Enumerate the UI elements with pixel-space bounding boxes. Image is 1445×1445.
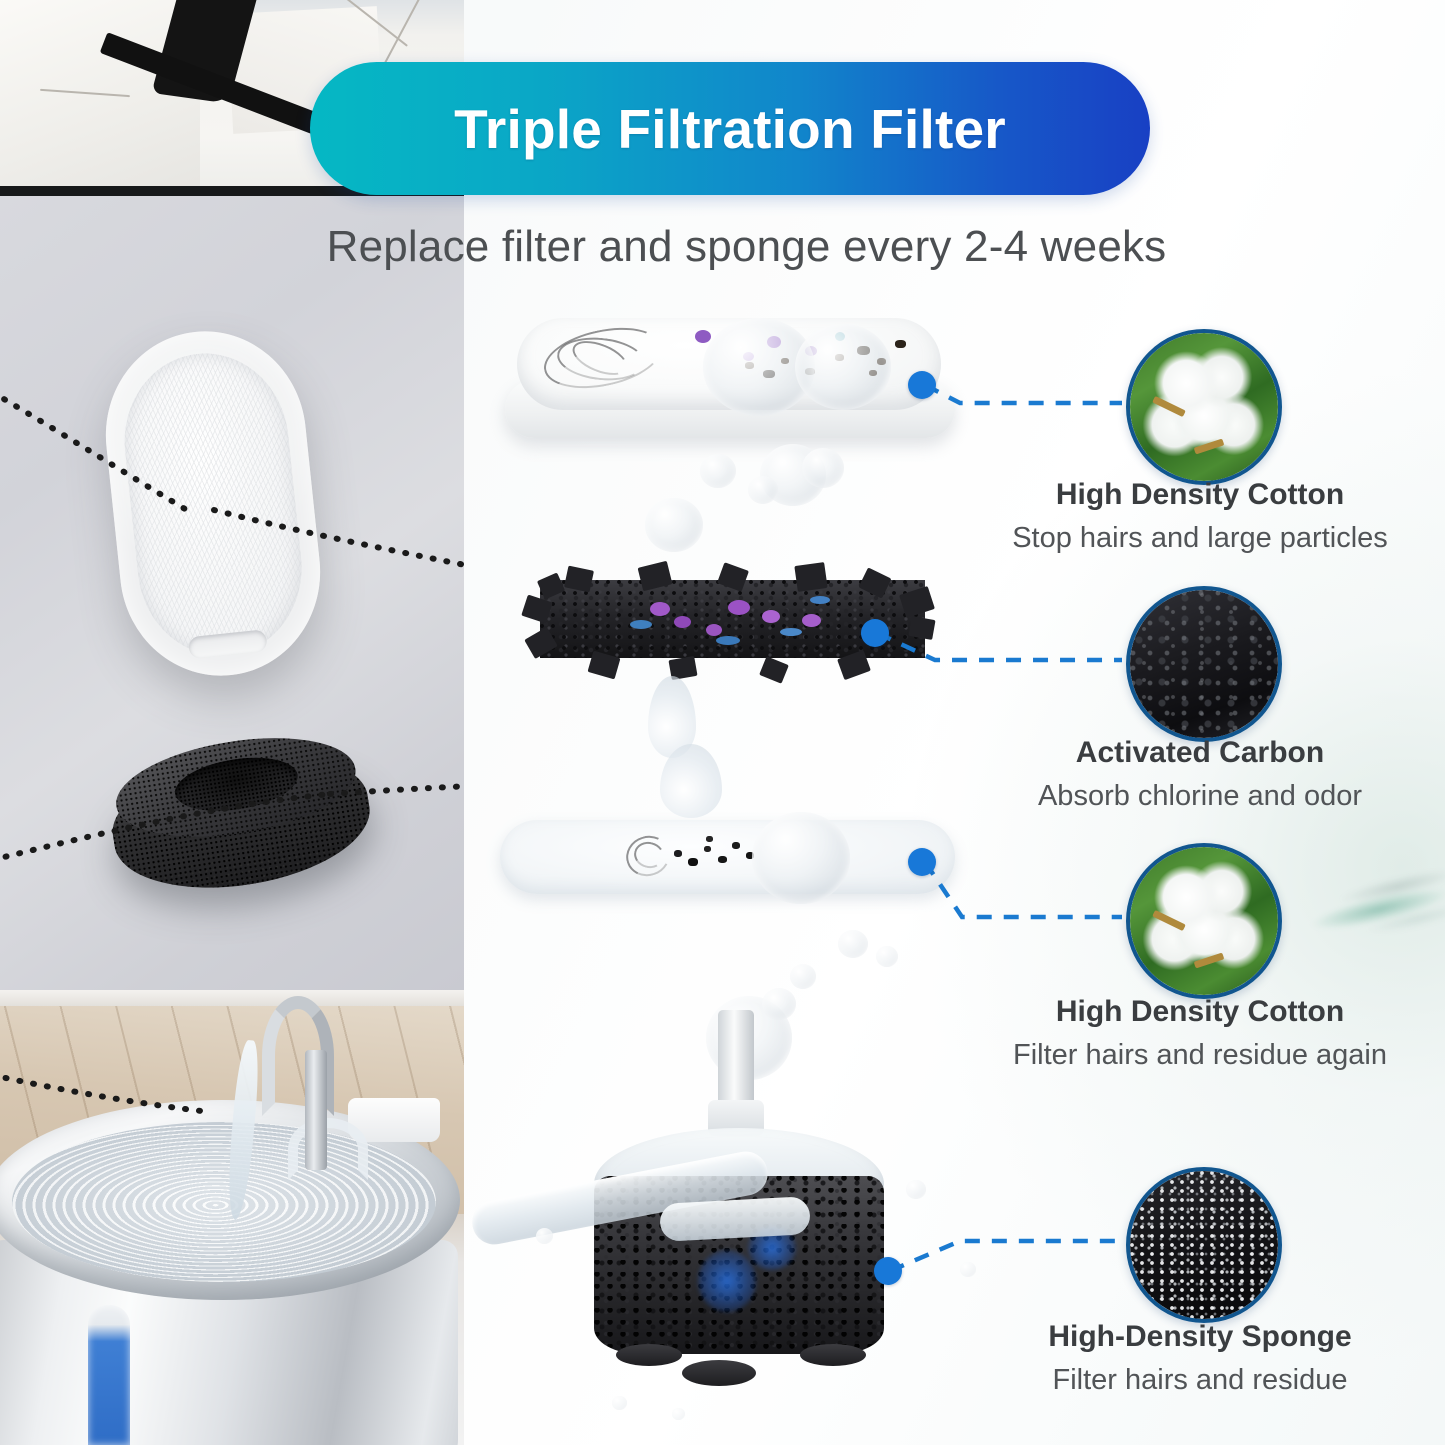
banner-title: Triple Filtration Filter bbox=[310, 62, 1150, 195]
germ-particle bbox=[630, 620, 652, 629]
wall-baseboard bbox=[0, 990, 464, 1006]
callout-marker-dot[interactable] bbox=[908, 848, 936, 876]
callout-thumbnail-cotton-2 bbox=[1126, 843, 1282, 999]
debris-particle bbox=[706, 836, 713, 842]
badge-image bbox=[1130, 1171, 1278, 1319]
callout-description: Absorb chlorine and odor bbox=[1000, 779, 1400, 814]
cotton-boll-icon bbox=[1130, 847, 1278, 995]
callout-activated-carbon: Activated Carbon Absorb chlorine and odo… bbox=[1000, 736, 1400, 813]
callout-high-density-sponge: High-Density Sponge Filter hairs and res… bbox=[1000, 1320, 1400, 1397]
badge-image bbox=[1130, 847, 1278, 995]
badge-image bbox=[1130, 333, 1278, 481]
germ-particle bbox=[674, 616, 691, 628]
germ-particle bbox=[728, 600, 750, 615]
water-bubble bbox=[748, 476, 778, 504]
water-bubble bbox=[612, 1396, 627, 1410]
debris-particle bbox=[732, 842, 740, 849]
debris-particle bbox=[895, 340, 906, 348]
germ-particle bbox=[650, 602, 670, 616]
fountain-water-surface bbox=[12, 1122, 436, 1282]
water-bubble bbox=[752, 812, 850, 904]
banner-title-text: Triple Filtration Filter bbox=[454, 97, 1006, 161]
callout-title: High-Density Sponge bbox=[1000, 1320, 1400, 1355]
callout-title: High Density Cotton bbox=[1000, 995, 1400, 1030]
callout-thumbnail-cotton bbox=[1126, 329, 1282, 485]
fountain-spout-stem bbox=[305, 1050, 327, 1170]
callout-marker-dot[interactable] bbox=[874, 1257, 902, 1285]
debris-particle bbox=[674, 850, 682, 857]
water-bubble bbox=[790, 964, 816, 989]
pump-sponge-assembly bbox=[470, 1000, 950, 1420]
suction-foot bbox=[682, 1360, 756, 1386]
germ-particle bbox=[802, 614, 821, 627]
water-tube-joint bbox=[659, 1196, 811, 1242]
debris-particle bbox=[704, 846, 711, 852]
debris-particle bbox=[718, 856, 727, 863]
water-bubble bbox=[762, 988, 796, 1020]
suction-foot bbox=[616, 1344, 682, 1366]
water-bubble bbox=[672, 1408, 685, 1420]
carbon-fragment bbox=[908, 616, 935, 640]
left-parts-panel bbox=[0, 196, 464, 990]
water-level-window bbox=[88, 1305, 130, 1445]
debris-particle bbox=[688, 858, 698, 866]
left-photo-column bbox=[0, 0, 464, 1445]
water-bubble bbox=[906, 1180, 926, 1199]
callout-thumbnail-sponge bbox=[1126, 1167, 1282, 1323]
germ-particle bbox=[780, 628, 802, 636]
water-bubble bbox=[645, 498, 703, 552]
callout-high-density-cotton-2: High Density Cotton Filter hairs and res… bbox=[1000, 995, 1400, 1072]
callout-marker-dot[interactable] bbox=[908, 371, 936, 399]
fountain-handle bbox=[288, 1118, 368, 1180]
callout-title: Activated Carbon bbox=[1000, 736, 1400, 771]
water-bubble bbox=[802, 448, 844, 488]
carbon-fragment bbox=[794, 562, 827, 592]
infographic-page: Triple Filtration Filter Replace filter … bbox=[0, 0, 1445, 1445]
suction-foot bbox=[800, 1344, 866, 1366]
germ-particle bbox=[706, 624, 722, 636]
porous-sponge-icon bbox=[1130, 1171, 1278, 1319]
water-bubble bbox=[536, 1228, 553, 1244]
cotton-bottom-pad bbox=[500, 820, 955, 894]
cotton-boll-icon bbox=[1130, 333, 1278, 481]
germ-particle bbox=[716, 636, 740, 645]
filter-layer-cotton-bottom bbox=[500, 812, 955, 912]
water-bubble bbox=[960, 1262, 976, 1277]
water-bubble bbox=[876, 946, 898, 967]
callout-marker-dot[interactable] bbox=[861, 619, 889, 647]
callout-title: High Density Cotton bbox=[1000, 478, 1400, 513]
germ-particle bbox=[810, 596, 830, 604]
water-bubble bbox=[700, 454, 736, 488]
badge-image bbox=[1130, 590, 1278, 738]
oval-cotton-pad-photo bbox=[96, 321, 331, 685]
subtitle-text: Replace filter and sponge every 2-4 week… bbox=[24, 222, 1445, 272]
callout-description: Stop hairs and large particles bbox=[1000, 521, 1400, 556]
filter-layer-cotton-top bbox=[505, 318, 955, 443]
germ-particle bbox=[762, 610, 780, 623]
activated-carbon-icon bbox=[1130, 590, 1278, 738]
water-bubble bbox=[838, 930, 868, 958]
callout-thumbnail-carbon bbox=[1126, 586, 1282, 742]
cotton-pad-texture bbox=[116, 345, 311, 663]
water-bubble bbox=[795, 324, 891, 410]
callout-description: Filter hairs and residue again bbox=[1000, 1038, 1400, 1073]
callout-description: Filter hairs and residue bbox=[1000, 1363, 1400, 1398]
sponge-blue-accent bbox=[698, 1250, 756, 1312]
germ-particle bbox=[695, 330, 711, 343]
callout-high-density-cotton-1: High Density Cotton Stop hairs and large… bbox=[1000, 478, 1400, 555]
fountain-photo bbox=[0, 990, 464, 1445]
sponge-ring-photo bbox=[101, 722, 381, 918]
carbon-fragment bbox=[759, 656, 789, 684]
